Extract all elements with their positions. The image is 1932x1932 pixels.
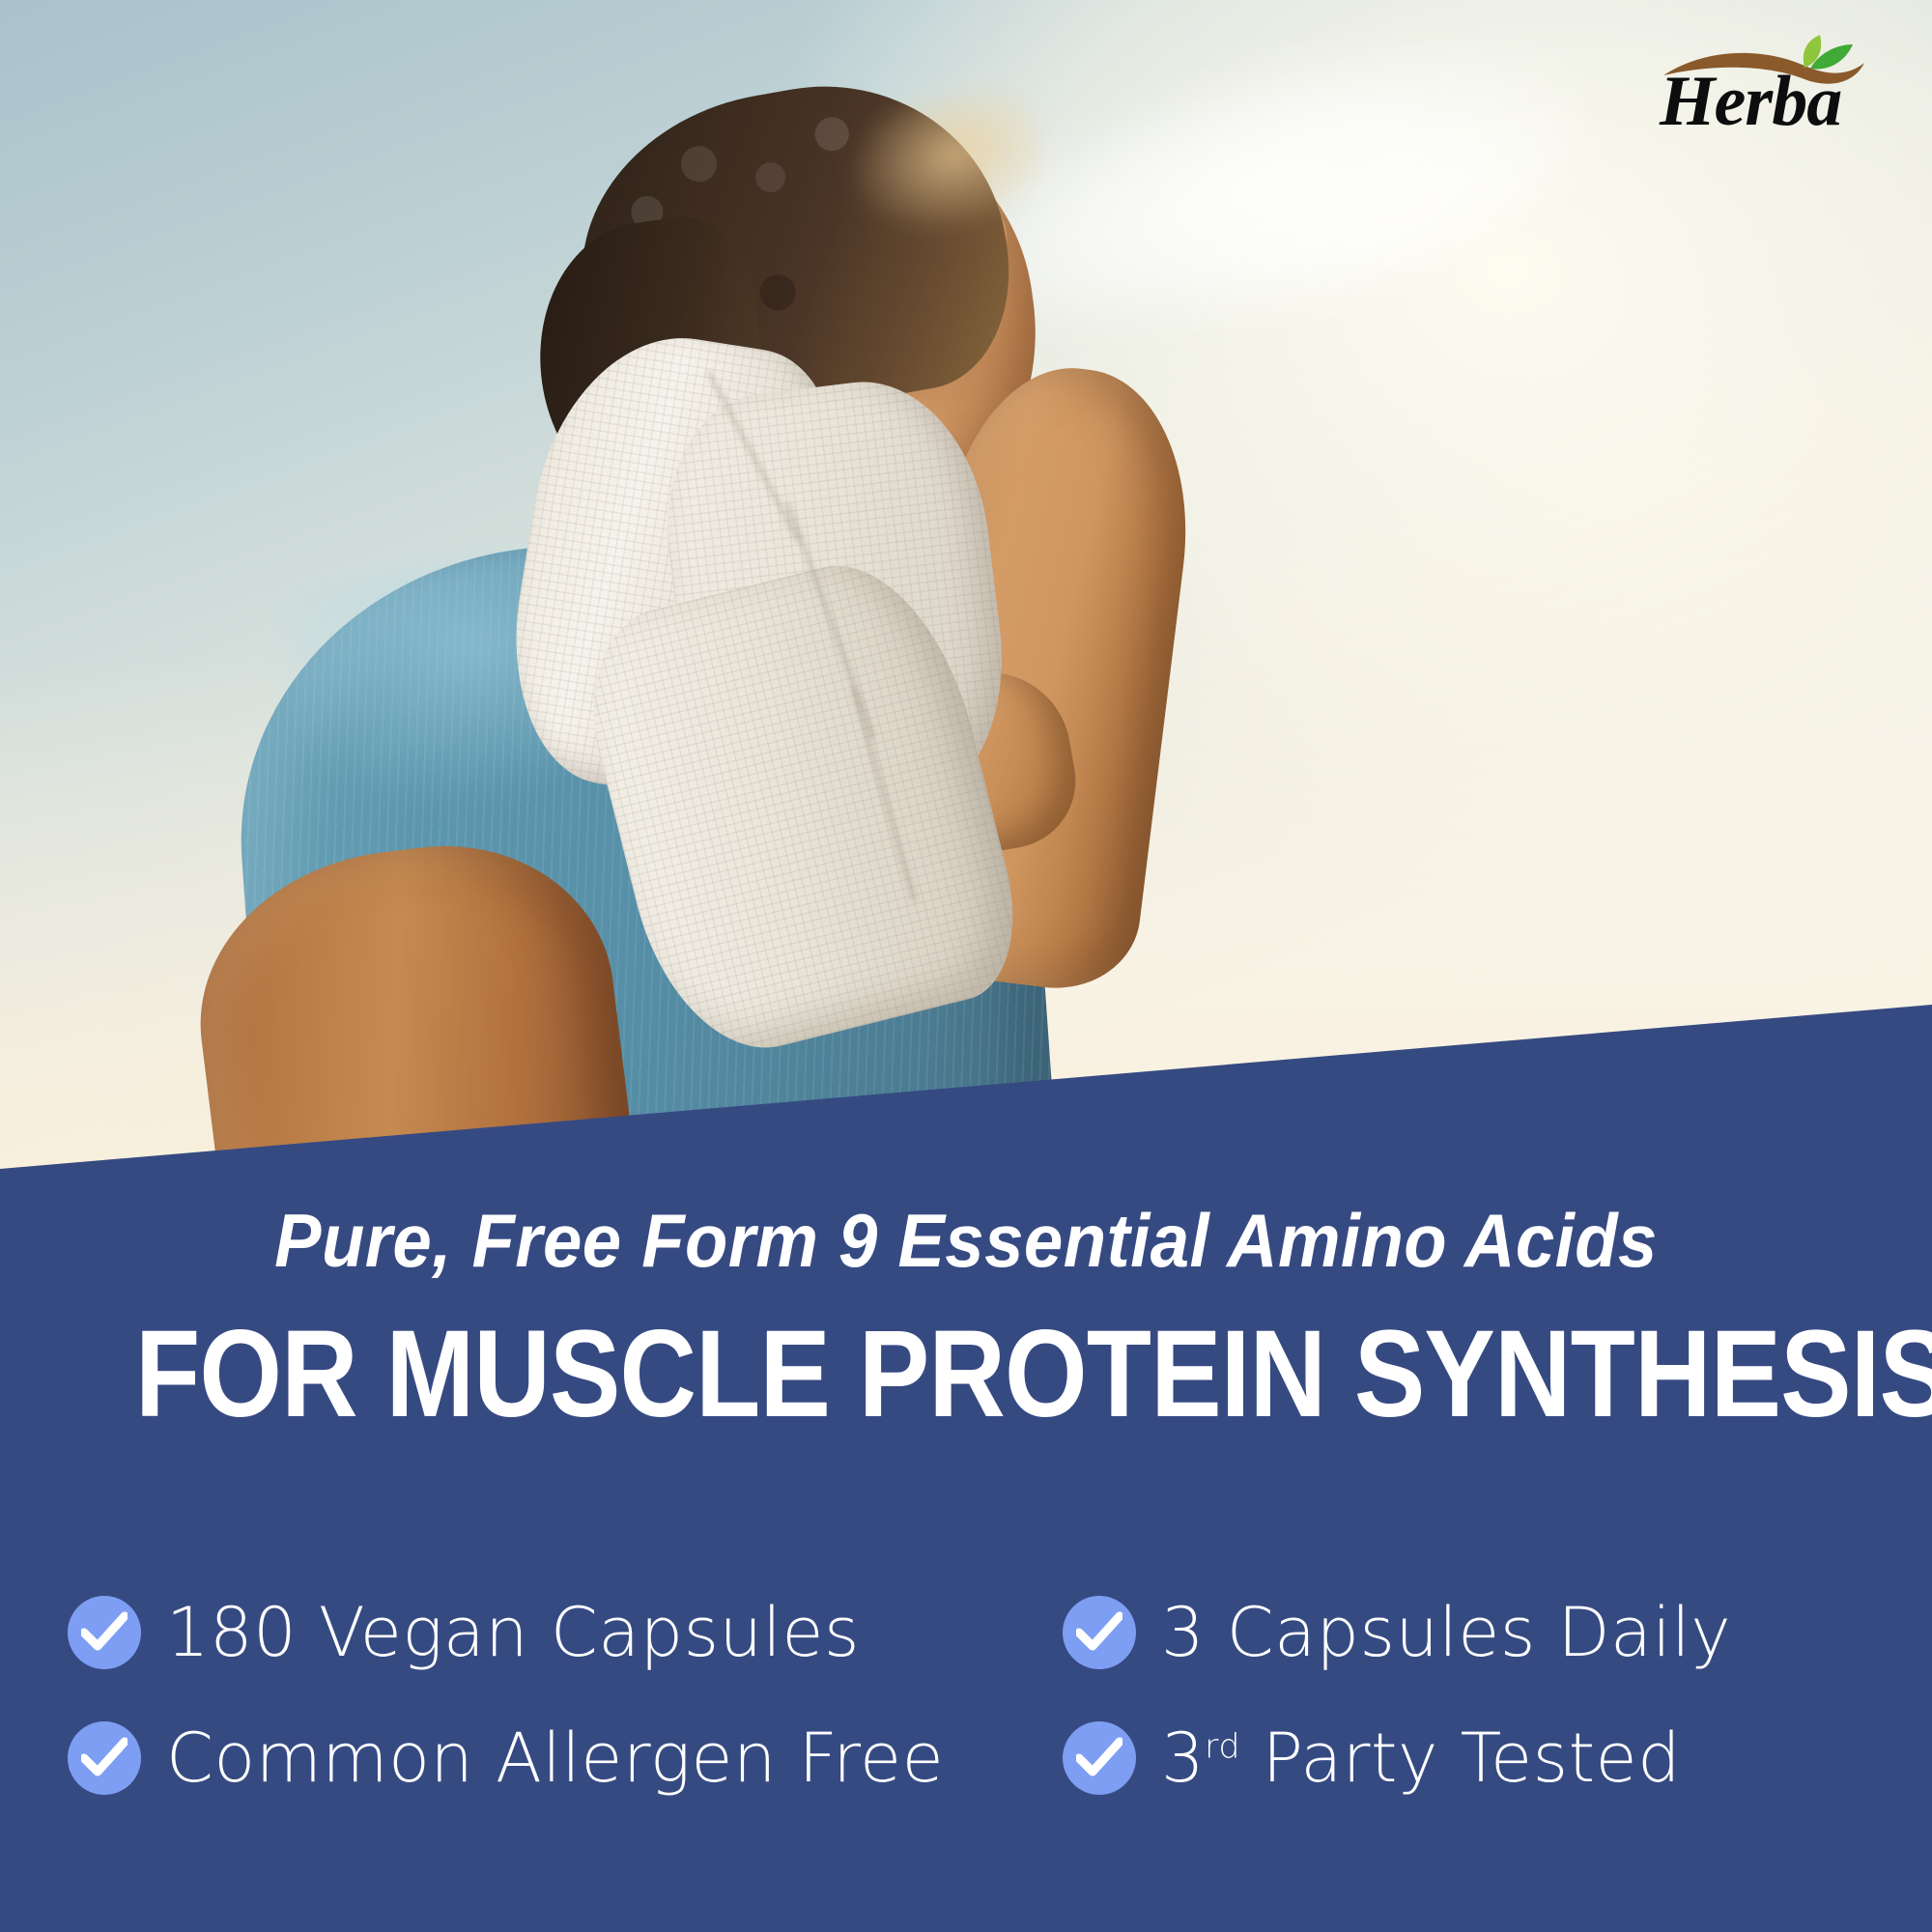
feature-label-prefix: 3 — [1161, 1719, 1205, 1798]
feature-label: 3rd Party Tested — [1161, 1724, 1681, 1792]
check-circle-icon — [1063, 1596, 1136, 1669]
checkmark-glyph — [81, 1737, 128, 1779]
headline: FOR MUSCLE PROTEIN SYNTHESIS — [135, 1313, 1797, 1436]
brand-logo: Herba — [1660, 33, 1882, 139]
tagline: Pure, Free Form 9 Essential Amino Acids — [68, 1203, 1864, 1278]
logo-wordmark: Herba — [1660, 66, 1882, 137]
checkmark-glyph — [1076, 1611, 1122, 1654]
checkmark-glyph — [81, 1611, 128, 1654]
checkmark-glyph — [1076, 1737, 1122, 1779]
feature-item-vegan-capsules: 180 Vegan Capsules — [68, 1596, 1063, 1669]
check-circle-icon — [68, 1721, 141, 1795]
product-marketing-image: Herba Pure, Free Form 9 Essential Amino … — [0, 0, 1932, 1932]
feature-list: 180 Vegan Capsules 3 Capsules Daily Comm… — [68, 1570, 1884, 1821]
feature-label: 180 Vegan Capsules — [166, 1599, 860, 1666]
check-circle-icon — [68, 1596, 141, 1669]
feature-label: Common Allergen Free — [166, 1724, 944, 1792]
feature-label-ordinal-suffix: rd — [1205, 1728, 1240, 1767]
feature-label: 3 Capsules Daily — [1161, 1599, 1731, 1666]
feature-item-capsules-daily: 3 Capsules Daily — [1063, 1596, 1884, 1669]
feature-item-third-party-tested: 3rd Party Tested — [1063, 1721, 1884, 1795]
panel-text-block: Pure, Free Form 9 Essential Amino Acids … — [0, 1203, 1932, 1436]
feature-label-rest: Party Tested — [1240, 1719, 1681, 1798]
feature-item-allergen-free: Common Allergen Free — [68, 1721, 1063, 1795]
check-circle-icon — [1063, 1721, 1136, 1795]
